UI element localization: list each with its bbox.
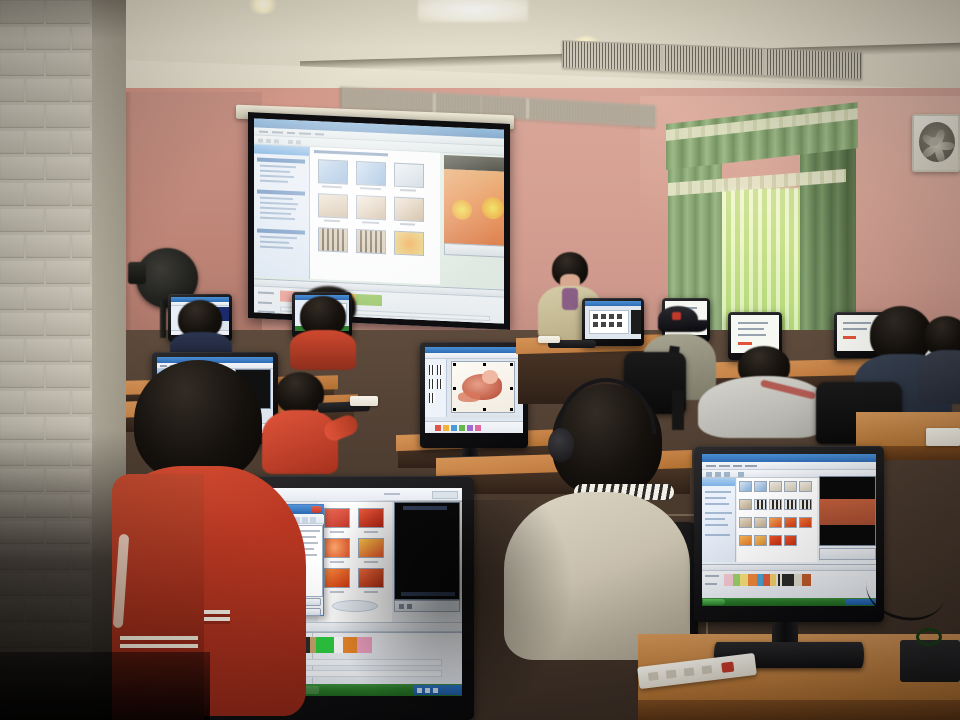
- proj-preview-video: [444, 169, 504, 246]
- fr-thumb[interactable]: [769, 517, 782, 528]
- fr-thumb[interactable]: [739, 517, 752, 528]
- fr-thumb[interactable]: [784, 517, 797, 528]
- cap-logo: [672, 312, 681, 320]
- fr-thumb[interactable]: [754, 481, 767, 492]
- proj-thumb: [318, 193, 348, 218]
- jacket-trim-foreground: [120, 636, 198, 652]
- proj-pane-section-3: [257, 228, 305, 234]
- monitor-front-right[interactable]: [694, 446, 884, 622]
- fr-thumb[interactable]: [784, 535, 797, 546]
- fr-thumb[interactable]: [799, 499, 812, 510]
- floor-fan-pole: [160, 300, 166, 338]
- proj-pane-section-2: [257, 189, 305, 195]
- fr-thumb[interactable]: [799, 517, 812, 528]
- proj-collections-area: [310, 147, 440, 285]
- fr-timeline[interactable]: [702, 564, 876, 598]
- monitor-teacher-desk[interactable]: [582, 298, 644, 346]
- papers: [350, 396, 378, 406]
- proj-pane-section-1: [257, 157, 305, 163]
- proj-thumb: [356, 195, 386, 220]
- brick-column: [0, 0, 124, 720]
- proj-thumb: [318, 159, 348, 184]
- fr-task-pane[interactable]: [702, 478, 736, 562]
- cable-coil: [916, 628, 942, 646]
- inner-shirt: [562, 288, 578, 310]
- fr-thumb[interactable]: [754, 499, 767, 510]
- projection-screen[interactable]: [248, 112, 510, 330]
- classroom-scene: [0, 0, 960, 720]
- floor-shadow: [330, 500, 570, 720]
- headphone-cup: [548, 428, 574, 462]
- papers: [538, 336, 560, 343]
- curtain-right-shadow: [800, 127, 856, 343]
- fr-clip-track[interactable]: [724, 574, 844, 586]
- fr-thumb[interactable]: [754, 517, 767, 528]
- proj-thumb: [356, 229, 386, 254]
- proj-thumb: [394, 197, 424, 222]
- ceiling-panel-light: [418, 0, 528, 22]
- proj-movie-tasks-pane: [254, 144, 310, 279]
- fr-thumb[interactable]: [739, 481, 752, 492]
- fr-thumb[interactable]: [799, 481, 812, 492]
- fr-preview-controls[interactable]: [819, 548, 876, 560]
- fr-preview-pane[interactable]: [819, 476, 876, 546]
- fr-thumb[interactable]: [769, 481, 782, 492]
- monitor-mid-center[interactable]: [420, 342, 528, 448]
- proj-collection-title: [314, 150, 388, 156]
- photo-canvas[interactable]: [451, 361, 515, 413]
- proj-thumb: [394, 231, 424, 256]
- fr-thumb[interactable]: [754, 535, 767, 546]
- papers: [926, 428, 960, 446]
- mousepad: [900, 640, 960, 682]
- chair-leg: [672, 390, 684, 430]
- proj-thumb: [394, 163, 424, 188]
- proj-thumb: [318, 227, 348, 252]
- fr-thumb[interactable]: [739, 535, 752, 546]
- monitor-stand-neck: [772, 622, 798, 644]
- proj-pane-title: [254, 144, 309, 155]
- fr-taskbar[interactable]: [702, 598, 876, 606]
- proj-thumb: [356, 161, 386, 186]
- floor-shadow-left: [0, 652, 210, 720]
- desk-front-right-edge: [638, 700, 960, 720]
- power-switch[interactable]: [721, 662, 734, 673]
- fl-dialog-close-button[interactable]: [312, 506, 321, 513]
- fr-thumb[interactable]: [739, 499, 752, 510]
- fr-thumb[interactable]: [769, 499, 782, 510]
- fr-thumb[interactable]: [784, 499, 797, 510]
- fr-thumb[interactable]: [784, 481, 797, 492]
- proj-preview-controls[interactable]: [444, 243, 504, 258]
- fr-thumb[interactable]: [769, 535, 782, 546]
- wall-exhaust-fan: [912, 114, 960, 172]
- fr-collections-grid[interactable]: [737, 478, 817, 562]
- exhaust-fan-hub: [930, 137, 939, 146]
- floor-fan-motor: [128, 262, 146, 284]
